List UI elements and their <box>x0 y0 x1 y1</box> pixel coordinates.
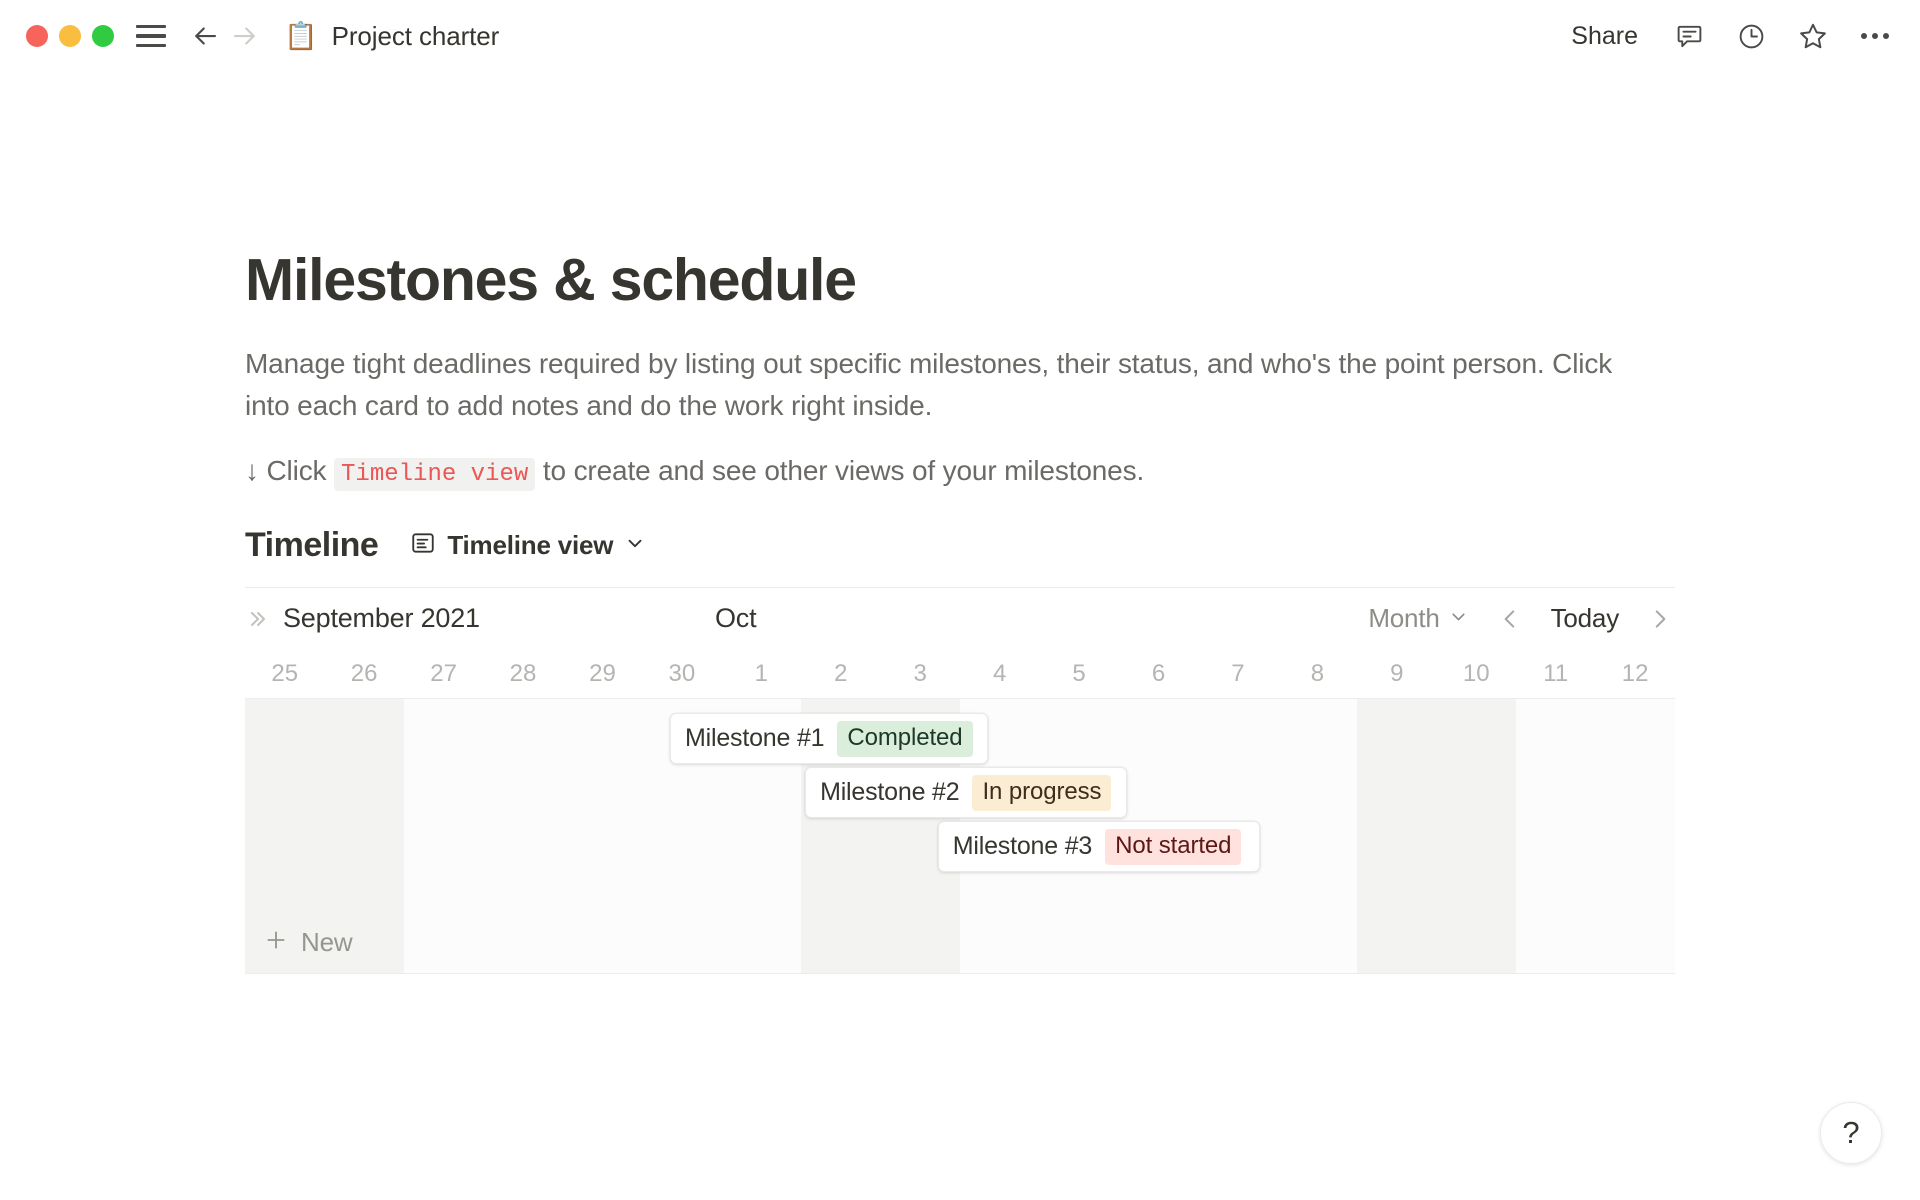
timeline-next-button[interactable] <box>1645 604 1675 634</box>
timeline-bars-layer: Milestone #1CompletedMilestone #2In prog… <box>245 699 1675 973</box>
timeline-bar-title: Milestone #2 <box>820 778 959 807</box>
forward-arrow-icon[interactable] <box>228 19 262 53</box>
day-label: 5 <box>1039 649 1118 698</box>
day-label: 9 <box>1357 649 1436 698</box>
add-new-item-label: New <box>301 927 352 958</box>
day-label: 28 <box>483 649 562 698</box>
chevron-down-icon <box>624 532 646 559</box>
menu-hamburger-icon[interactable] <box>136 25 166 47</box>
hint-suffix: to create and see other views of your mi… <box>535 455 1144 486</box>
timeline-bar-title: Milestone #3 <box>953 832 1092 861</box>
page-inner: Milestones & schedule Manage tight deadl… <box>245 72 1675 974</box>
timeline-bar-title: Milestone #1 <box>685 724 824 753</box>
timeline-view-label: Timeline view <box>447 530 613 561</box>
hint-prefix: ↓ Click <box>245 455 334 486</box>
day-label: 29 <box>563 649 642 698</box>
tab-timeline-view[interactable]: Timeline view <box>404 526 652 565</box>
status-badge: In progress <box>972 775 1111 811</box>
add-new-item-button[interactable]: New <box>245 911 352 973</box>
help-button[interactable]: ? <box>1820 1102 1882 1164</box>
document-title: Project charter <box>332 21 500 52</box>
plus-icon <box>263 927 289 958</box>
day-label: 7 <box>1198 649 1277 698</box>
timeline-month-group[interactable]: September 2021 <box>245 603 480 634</box>
chevron-down-icon <box>1448 606 1469 632</box>
timeline-zoom-select[interactable]: Month <box>1362 599 1474 638</box>
star-icon[interactable] <box>1796 19 1830 53</box>
timeline-today-button[interactable]: Today <box>1545 601 1625 636</box>
comment-icon[interactable] <box>1672 19 1706 53</box>
timeline-toolbar-right: Month Today <box>1362 599 1675 638</box>
day-label: 6 <box>1119 649 1198 698</box>
timeline-section-title: Timeline <box>245 526 378 565</box>
timeline-grid: Milestone #1CompletedMilestone #2In prog… <box>245 699 1675 974</box>
day-label: 11 <box>1516 649 1595 698</box>
page-title: Milestones & schedule <box>245 247 1675 313</box>
timeline-day-ruler: 252627282930123456789101112 <box>245 649 1675 699</box>
timeline-toolbar: September 2021 Oct Month <box>245 587 1675 649</box>
back-arrow-icon[interactable] <box>188 19 222 53</box>
day-label: 26 <box>324 649 403 698</box>
title-bar: 📋 Project charter Share <box>0 0 1920 72</box>
status-badge: Completed <box>837 721 972 757</box>
breadcrumb[interactable]: 📋 Project charter <box>284 21 499 52</box>
hint-line: ↓ Click Timeline view to create and see … <box>245 450 1675 493</box>
day-label: 30 <box>642 649 721 698</box>
page-content: Milestones & schedule Manage tight deadl… <box>0 72 1920 974</box>
timeline-month-secondary: Oct <box>715 603 756 634</box>
share-button[interactable]: Share <box>1565 18 1644 55</box>
day-label: 12 <box>1595 649 1674 698</box>
timeline-prev-button[interactable] <box>1495 604 1525 634</box>
titlebar-actions: Share <box>1565 18 1892 55</box>
day-label: 2 <box>801 649 880 698</box>
maximize-window-button[interactable] <box>92 25 114 47</box>
day-label: 8 <box>1278 649 1357 698</box>
timeline-bar[interactable]: Milestone #1Completed <box>670 713 988 764</box>
inline-code-timeline-view[interactable]: Timeline view <box>334 458 535 491</box>
history-clock-icon[interactable] <box>1734 19 1768 53</box>
timeline-view-icon <box>410 530 436 561</box>
timeline-month-primary: September 2021 <box>283 603 480 634</box>
minimize-window-button[interactable] <box>59 25 81 47</box>
app-window: 📋 Project charter Share <box>0 0 1920 1200</box>
page-description: Manage tight deadlines required by listi… <box>245 343 1615 426</box>
day-label: 4 <box>960 649 1039 698</box>
status-badge: Not started <box>1105 829 1241 865</box>
timeline-section-header: Timeline Timeline view <box>245 526 1675 565</box>
timeline-zoom-label: Month <box>1368 603 1439 634</box>
close-window-button[interactable] <box>26 25 48 47</box>
clipboard-icon: 📋 <box>284 23 318 50</box>
day-label: 27 <box>404 649 483 698</box>
timeline-bar[interactable]: Milestone #3Not started <box>938 821 1260 872</box>
day-label: 3 <box>881 649 960 698</box>
timeline-bar[interactable]: Milestone #2In progress <box>805 767 1127 818</box>
day-label: 10 <box>1437 649 1516 698</box>
traffic-lights <box>26 25 114 47</box>
more-options-icon[interactable] <box>1858 19 1892 53</box>
chevron-double-right-icon[interactable] <box>245 607 269 631</box>
day-label: 25 <box>245 649 324 698</box>
day-label: 1 <box>722 649 801 698</box>
